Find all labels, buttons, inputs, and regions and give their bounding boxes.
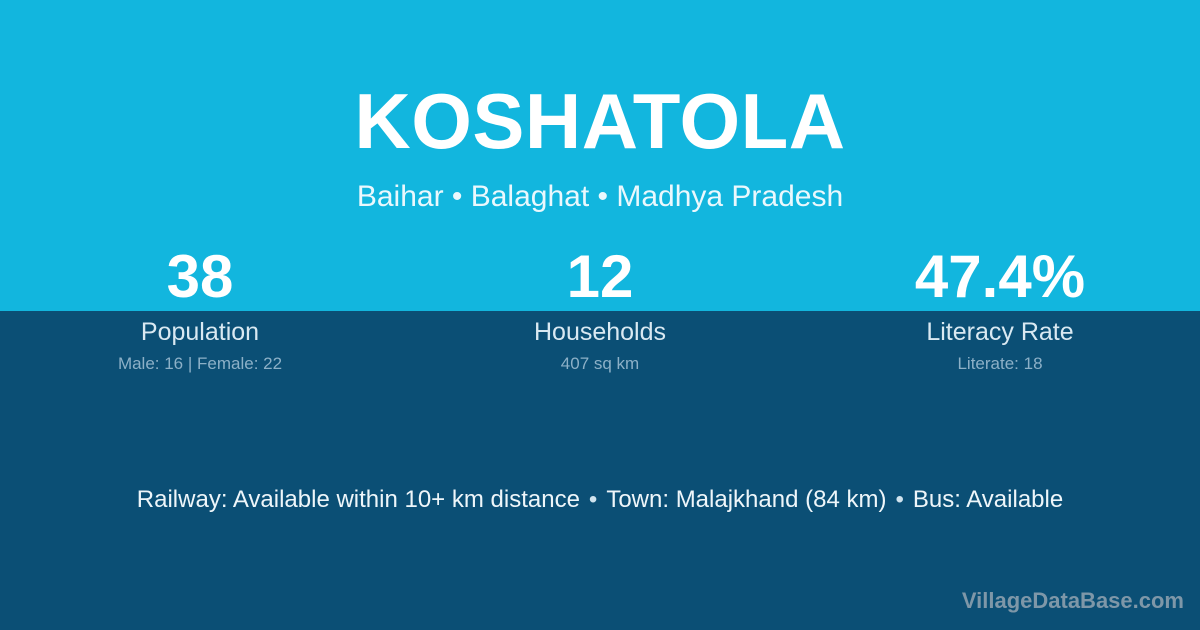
- literacy-rate-label: Literacy Rate: [800, 318, 1200, 346]
- households-label: Households: [400, 318, 800, 346]
- literacy-rate-value: 47.4%: [800, 248, 1200, 310]
- site-watermark: VillageDataBase.com: [962, 588, 1184, 614]
- literate-count: Literate: 18: [800, 354, 1200, 374]
- bullet-separator-icon: •: [580, 484, 606, 516]
- population-label: Population: [0, 318, 400, 346]
- population-value: 38: [0, 248, 400, 310]
- stat-literacy-rate: 47.4% Literacy Rate Literate: 18: [800, 248, 1200, 374]
- households-value: 12: [400, 248, 800, 310]
- statistics-row: 38 Population Male: 16 | Female: 22 12 H…: [0, 248, 1200, 374]
- village-name-title: KOSHATOLA: [0, 82, 1200, 160]
- area-value: 407 sq km: [400, 354, 800, 374]
- village-info-banner: KOSHATOLA Baihar • Balaghat • Madhya Pra…: [0, 0, 1200, 630]
- stat-population: 38 Population Male: 16 | Female: 22: [0, 248, 400, 374]
- railway-facility: Railway: Available within 10+ km distanc…: [137, 486, 580, 513]
- bullet-separator-icon-2: •: [886, 484, 912, 516]
- facilities-line: Railway: Available within 10+ km distanc…: [0, 484, 1200, 516]
- population-breakdown: Male: 16 | Female: 22: [0, 354, 400, 374]
- nearest-town-facility: Town: Malajkhand (84 km): [606, 486, 886, 513]
- stat-households: 12 Households 407 sq km: [400, 248, 800, 374]
- bus-facility: Bus: Available: [913, 486, 1063, 513]
- village-location-subtitle: Baihar • Balaghat • Madhya Pradesh: [0, 182, 1200, 212]
